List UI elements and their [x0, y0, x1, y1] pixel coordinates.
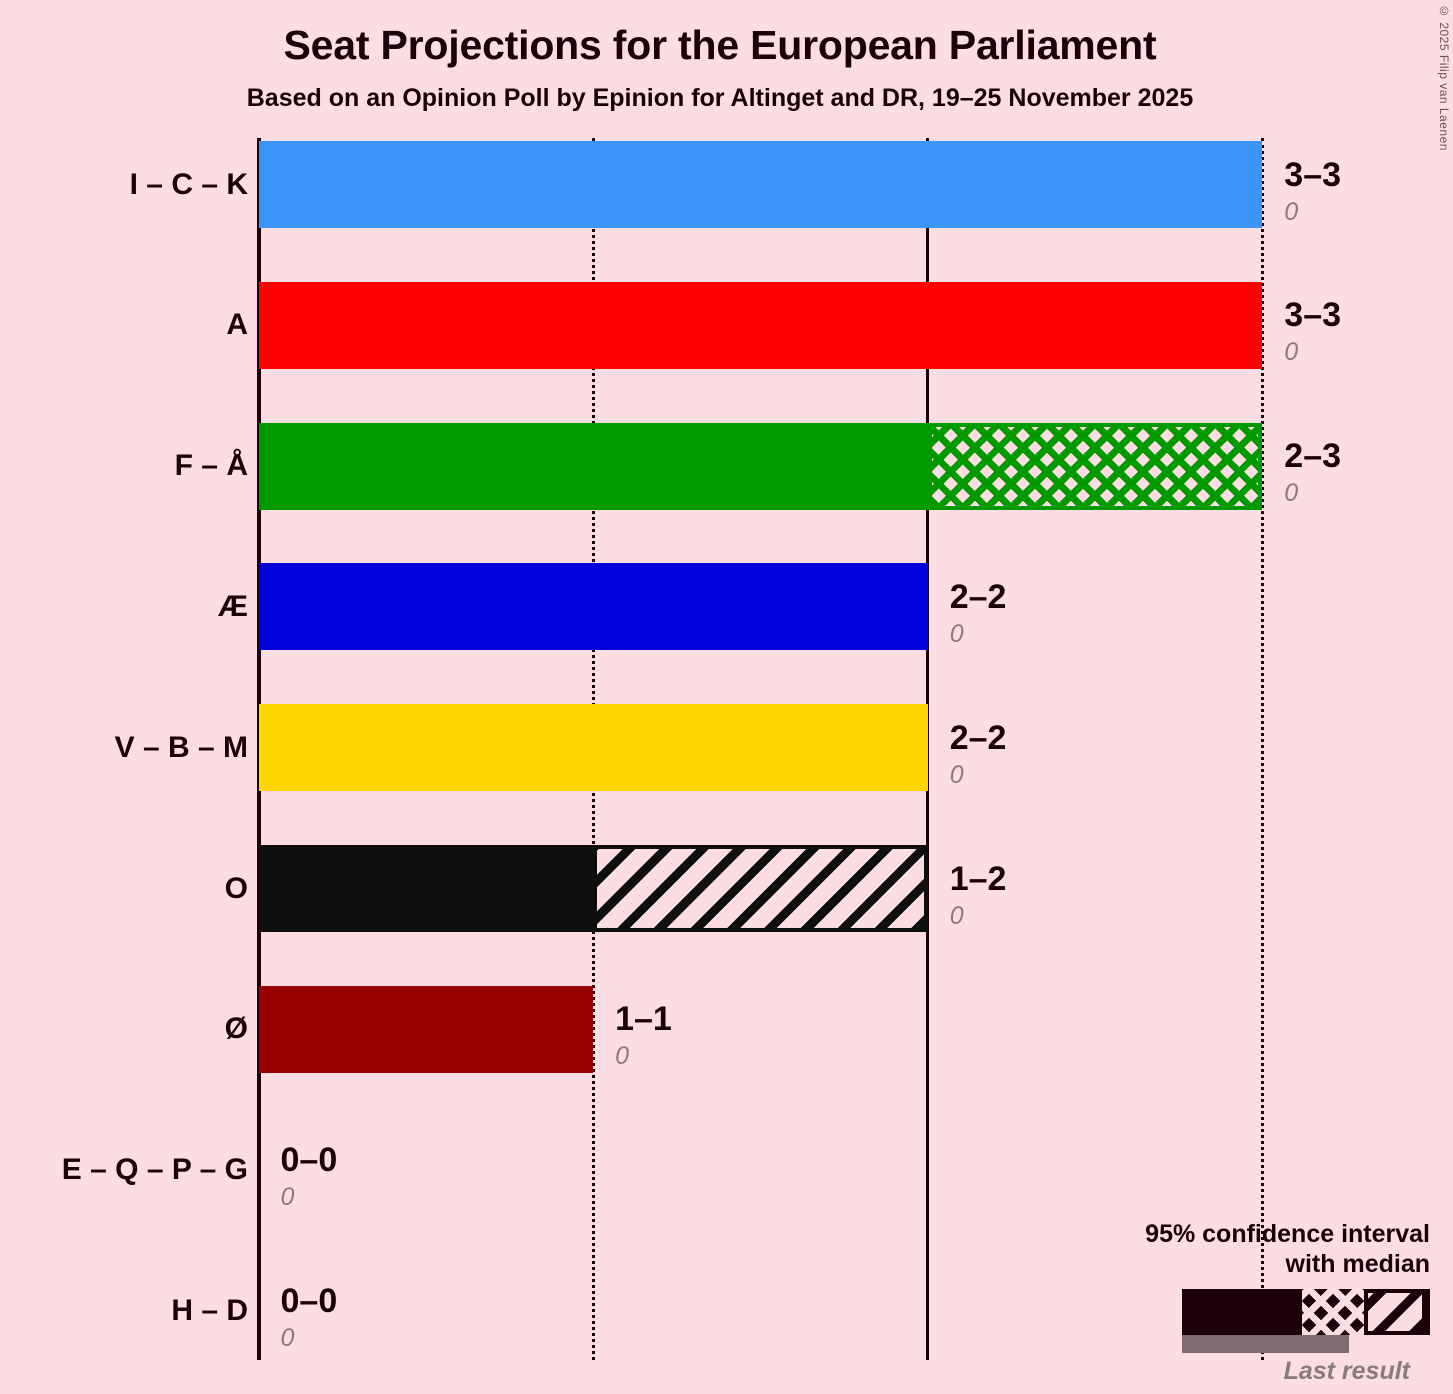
last-result-label-2: 0	[1284, 338, 1298, 367]
category-label-2: A	[226, 308, 248, 342]
last-result-label-1: 0	[1284, 198, 1298, 227]
category-label-7: Ø	[225, 1012, 248, 1046]
legend-diagonal-segment	[1364, 1289, 1426, 1335]
bar-median-segment	[259, 282, 1263, 369]
category-label-9: H – D	[171, 1294, 248, 1328]
bar-1	[259, 141, 1263, 228]
bar-median-segment	[259, 704, 928, 791]
legend-last-result-bar	[1182, 1335, 1349, 1353]
value-label-5: 2–2	[950, 719, 1007, 758]
seat-projection-chart: Seat Projections for the European Parlia…	[0, 0, 1453, 1394]
chart-legend: 95% confidence interval with median Last…	[1090, 1220, 1430, 1355]
bar-5	[259, 704, 928, 791]
legend-line-2: with median	[1090, 1250, 1430, 1280]
bar-7	[259, 986, 594, 1073]
bar-median-segment	[259, 563, 928, 650]
last-result-label-5: 0	[950, 761, 964, 790]
value-label-7: 1–1	[615, 1000, 672, 1039]
bar-2	[259, 282, 1263, 369]
bar-median-segment	[259, 423, 928, 510]
bar-uncertainty-segment	[928, 423, 1263, 510]
category-label-8: E – Q – P – G	[62, 1153, 248, 1187]
last-result-label-9: 0	[281, 1324, 295, 1353]
legend-confidence-bar	[1182, 1289, 1430, 1335]
category-label-1: I – C – K	[130, 168, 248, 202]
bar-6	[259, 845, 928, 932]
value-label-3: 2–3	[1284, 437, 1341, 476]
bar-median-segment	[259, 845, 594, 932]
value-label-4: 2–2	[950, 578, 1007, 617]
value-label-2: 3–3	[1284, 296, 1341, 335]
category-label-3: F – Å	[175, 449, 248, 483]
value-label-8: 0–0	[281, 1141, 338, 1180]
bar-4	[259, 563, 928, 650]
legend-sample-wrap: Last result	[1090, 1289, 1430, 1355]
last-result-label-6: 0	[950, 902, 964, 931]
category-label-5: V – B – M	[115, 731, 248, 765]
legend-crosshatch-segment	[1302, 1289, 1364, 1335]
last-result-label-8: 0	[281, 1183, 295, 1212]
bar-median-segment	[259, 141, 1263, 228]
value-label-1: 3–3	[1284, 156, 1341, 195]
bar-3	[259, 423, 1263, 510]
value-label-6: 1–2	[950, 860, 1007, 899]
last-result-label-3: 0	[1284, 479, 1298, 508]
category-label-4: Æ	[218, 590, 248, 624]
category-label-6: O	[225, 872, 248, 906]
legend-line-1: 95% confidence interval	[1090, 1220, 1430, 1250]
last-result-label-7: 0	[615, 1042, 629, 1071]
last-result-label-4: 0	[950, 620, 964, 649]
value-label-9: 0–0	[281, 1282, 338, 1321]
legend-last-result-label: Last result	[1284, 1357, 1410, 1386]
bar-median-segment	[259, 986, 594, 1073]
bar-uncertainty-segment	[593, 845, 928, 932]
plot-area: I – C – K3–30A3–30F – Å2–30Æ2–20V – B – …	[0, 0, 1453, 1394]
